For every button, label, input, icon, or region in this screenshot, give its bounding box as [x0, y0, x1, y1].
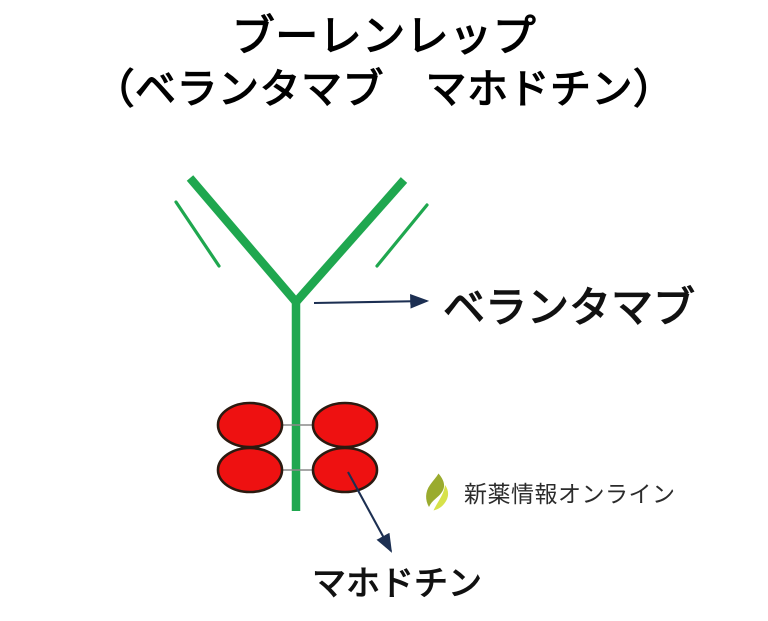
diagram-canvas: ブーレンレップ （ベランタマブ マホドチン） ベランタマブ マホド	[0, 0, 768, 621]
label-antibody: ベランタマブ	[443, 274, 695, 335]
payload-top-right-ellipse	[313, 403, 377, 447]
watermark-text: 新薬情報オンライン	[464, 475, 676, 509]
light-chain-right-line	[377, 205, 427, 266]
payload-bottom-left-ellipse	[218, 448, 282, 492]
light-chain-left-line	[176, 202, 219, 266]
heavy-chain-left-arm-line	[190, 178, 296, 302]
heavy-chain-right-arm-line	[296, 180, 404, 302]
watermark: 新薬情報オンライン	[420, 472, 676, 512]
payload-top-left-ellipse	[218, 403, 282, 447]
label-payload: マホドチン	[312, 556, 482, 605]
leaf-flame-logo-icon	[420, 472, 454, 512]
payload-bottom-right-ellipse	[313, 448, 377, 492]
arrow-to-antibody-icon	[314, 301, 427, 303]
